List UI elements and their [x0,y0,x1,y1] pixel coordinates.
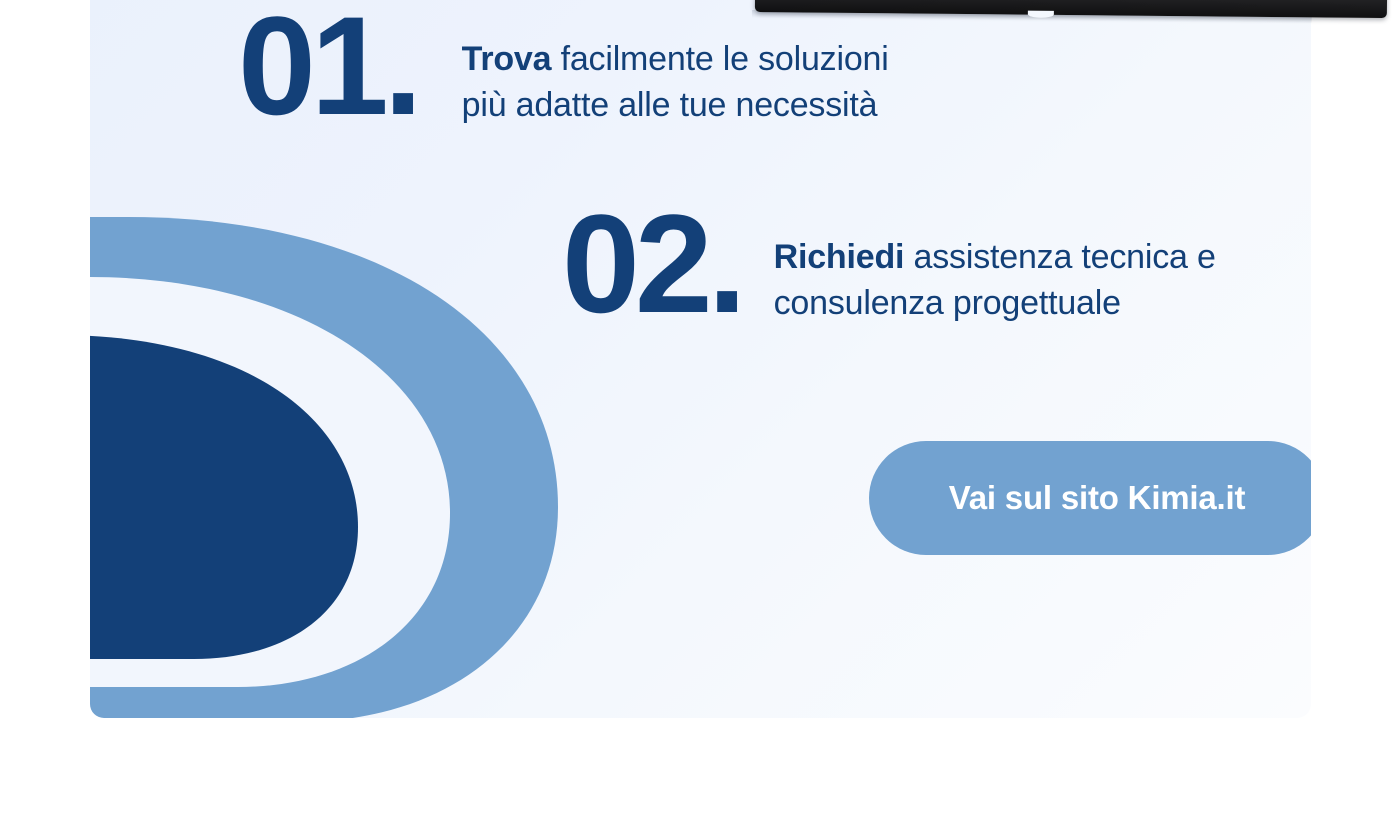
step-text-2: Richiedi assistenza tecnica e consulenza… [774,234,1216,326]
step-lead-1: Trova [462,40,552,78]
step-item-1: 01. Trova facilmente le soluzioni più ad… [238,0,889,132]
step-line1-rest-1: facilmente le soluzioni [551,40,888,78]
step-number-2: 02. [562,198,742,330]
promo-card: 01. Trova facilmente le soluzioni più ad… [90,0,1311,718]
step-item-2: 02. Richiedi assistenza tecnica e consul… [562,198,1216,330]
step-text-1: Trova facilmente le soluzioni più adatte… [462,36,889,128]
step-line2-1: più adatte alle tue necessità [462,82,889,128]
step-line2-2: consulenza progettuale [774,280,1216,326]
promo-slide: 01. Trova facilmente le soluzioni più ad… [0,0,1400,830]
step-lead-2: Richiedi [774,238,905,276]
visit-kimia-site-button[interactable]: Vai sul sito Kimia.it [869,441,1311,555]
step-line1-rest-2: assistenza tecnica e [904,238,1215,276]
kimia-droplet-logo-icon [90,217,558,718]
step-number-1: 01. [238,0,418,132]
